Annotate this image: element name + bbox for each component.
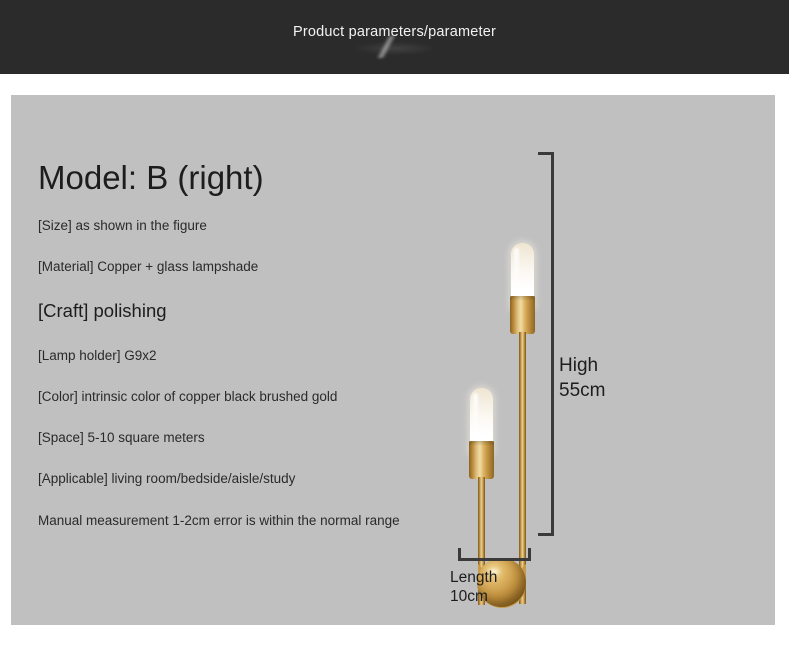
spec-space: [Space] 5-10 square meters [38, 429, 438, 447]
model-title: Model: B (right) [38, 157, 438, 199]
spec-size: [Size] as shown in the figure [38, 217, 438, 235]
height-dimension-line [551, 152, 554, 536]
length-dimension-line [458, 558, 531, 561]
height-label-text: High [559, 353, 605, 378]
lamp-holder-lower [469, 441, 494, 479]
spec-applicable: [Applicable] living room/bedside/aisle/s… [38, 470, 438, 488]
spec-material: [Material] Copper + glass lampshade [38, 258, 438, 276]
page-header: Product parameters/parameter [0, 0, 789, 74]
height-label-value: 55cm [559, 378, 605, 403]
header-glow [330, 38, 450, 64]
length-label-value: 10cm [450, 587, 497, 606]
length-dimension-tick-right [528, 548, 531, 561]
measurement-note: Manual measurement 1-2cm error is within… [38, 511, 410, 531]
height-dimension-tick-bottom [538, 533, 554, 536]
spec-color: [Color] intrinsic color of copper black … [38, 388, 438, 406]
height-dimension-label: High 55cm [559, 353, 605, 403]
length-dimension-label: Length 10cm [450, 568, 497, 606]
lamp-holder-upper [510, 296, 535, 334]
spec-lamp-holder: [Lamp holder] G9x2 [38, 347, 438, 365]
specification-list: Model: B (right) [Size] as shown in the … [38, 157, 438, 531]
product-parameters-panel: Model: B (right) [Size] as shown in the … [11, 95, 775, 625]
page-title: Product parameters/parameter [0, 23, 789, 41]
spec-craft: [Craft] polishing [38, 299, 438, 323]
length-label-text: Length [450, 568, 497, 587]
